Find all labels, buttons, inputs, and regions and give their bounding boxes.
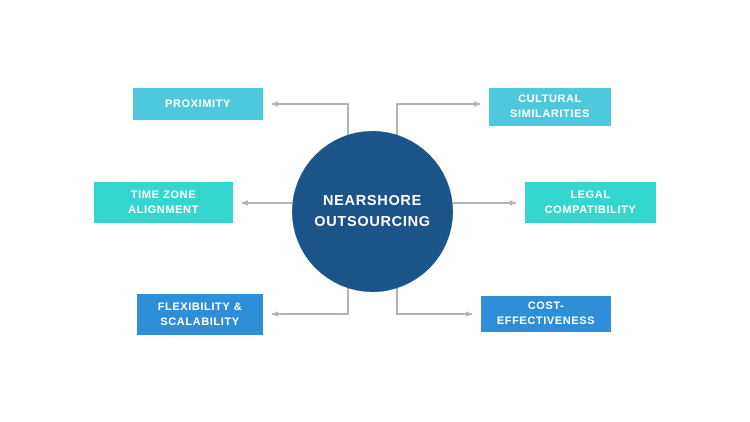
node-proximity[interactable]: PROXIMITY (133, 88, 263, 120)
node-time-zone-alignment[interactable]: TIME ZONE ALIGNMENT (94, 182, 233, 223)
nearshore-outsourcing-diagram: NEARSHORE OUTSOURCING PROXIMITY CULTURAL… (0, 0, 750, 422)
node-cost-effectiveness[interactable]: COST-EFFECTIVENESS (481, 296, 611, 332)
center-node-nearshore-outsourcing[interactable]: NEARSHORE OUTSOURCING (292, 131, 453, 292)
node-cultural-similarities[interactable]: CULTURAL SIMILARITIES (489, 88, 611, 126)
node-legal-compatibility[interactable]: LEGAL COMPATIBILITY (525, 182, 656, 223)
node-flexibility-scalability[interactable]: FLEXIBILITY & SCALABILITY (137, 294, 263, 335)
